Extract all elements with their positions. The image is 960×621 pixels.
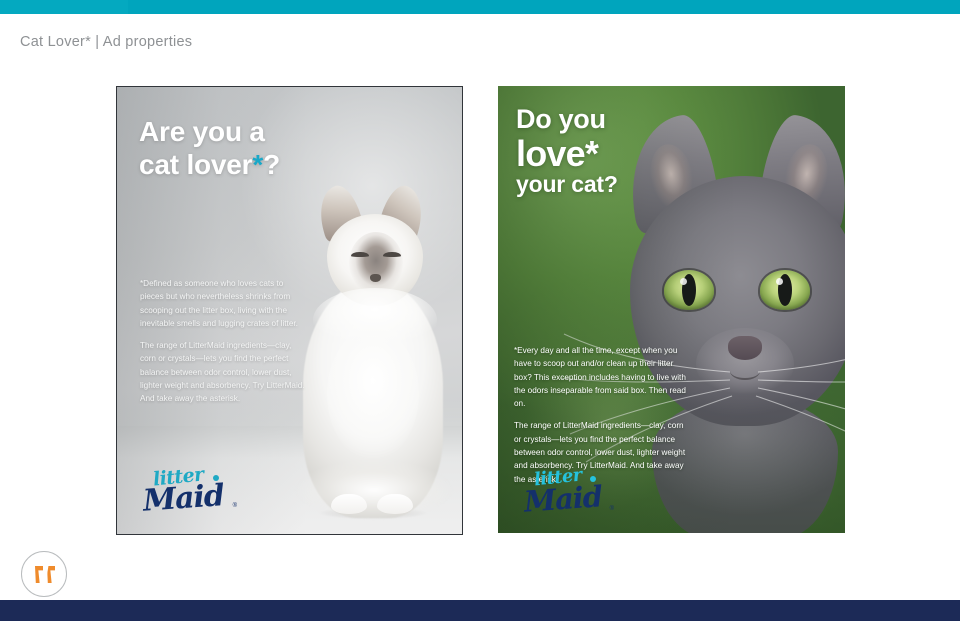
poster-2-headline-line-2: love* — [516, 136, 618, 173]
poster-2-headline: Do you love* your cat? — [516, 106, 618, 197]
cat-nose — [370, 274, 381, 282]
logo-word-maid: Maid — [142, 478, 225, 519]
breadcrumb[interactable]: Cat Lover* | Ad properties — [20, 34, 192, 50]
cat-paw-left — [331, 494, 367, 514]
monogram-icon — [22, 552, 66, 596]
poster-1-headline-line-2-suffix: ? — [263, 149, 280, 180]
cat-eye-left — [351, 252, 369, 257]
poster-2-headline-line-3: your cat? — [516, 173, 618, 196]
slide-canvas: Cat Lover* | Ad properties Are you a cat… — [0, 0, 960, 621]
monogram-stroke-left — [35, 566, 43, 583]
poster-2-headline-line-1: Do you — [516, 106, 618, 134]
poster-2-body-copy: *Every day and all the time, except when… — [514, 344, 686, 486]
poster-1-headline-line-2: cat lover*? — [139, 148, 280, 181]
cat-eye-right — [383, 252, 401, 257]
poster-1-headline-line-1: Are you a — [139, 115, 280, 148]
littermaid-logo: litter Maid ® — [143, 466, 235, 512]
cat-paw-right — [377, 494, 413, 514]
poster-1-headline-line-2-prefix: cat lover — [139, 149, 252, 180]
cat-face-mask — [349, 232, 403, 294]
poster-love-your-cat[interactable]: Do you love* your cat? *Every day and al… — [498, 86, 845, 533]
poster-1-paragraph-1: *Defined as someone who loves cats to pi… — [140, 277, 306, 330]
monogram-stroke-right — [47, 566, 55, 583]
cat-photo-ragdoll — [283, 170, 459, 518]
poster-2-paragraph-1: *Every day and all the time, except when… — [514, 344, 686, 410]
littermaid-logo: litter Maid ® — [524, 467, 612, 515]
logo-word-maid: Maid — [523, 479, 603, 518]
bottom-accent-bar — [0, 600, 960, 621]
studio-monogram-badge[interactable] — [21, 551, 67, 597]
logo-registered-mark: ® — [233, 503, 237, 509]
poster-1-headline: Are you a cat lover*? — [139, 115, 280, 181]
cat-ruff — [313, 288, 437, 352]
poster-1-paragraph-2: The range of LitterMaid ingredients—clay… — [140, 339, 306, 405]
asterisk-icon: * — [252, 149, 263, 180]
poster-cat-lover[interactable]: Are you a cat lover*? *Defined as someon… — [116, 86, 463, 535]
logo-registered-mark: ® — [610, 506, 614, 512]
top-accent-bar-segment — [0, 0, 128, 14]
poster-1-body-copy: *Defined as someone who loves cats to pi… — [140, 277, 306, 406]
top-accent-bar — [0, 0, 960, 14]
